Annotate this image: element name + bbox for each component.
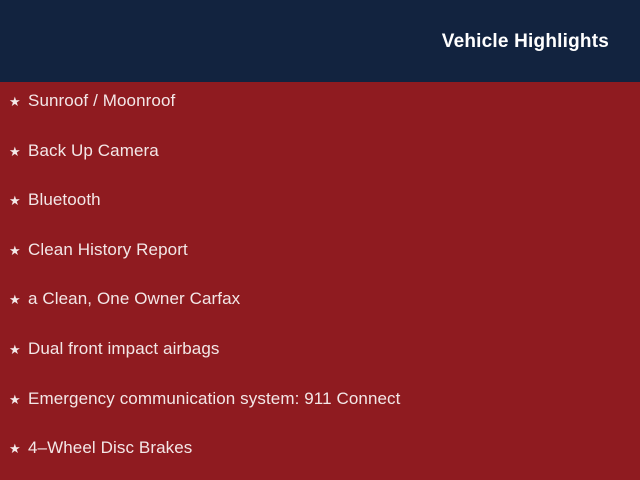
list-item: ★ Bluetooth (0, 191, 640, 241)
star-bullet-icon: ★ (9, 244, 28, 257)
highlights-list: ★ Sunroof / Moonroof ★ Back Up Camera ★ … (0, 92, 640, 480)
star-bullet-icon: ★ (9, 343, 28, 356)
list-item-label: Bluetooth (28, 191, 101, 208)
list-item-label: 4–Wheel Disc Brakes (28, 439, 192, 456)
star-bullet-icon: ★ (9, 293, 28, 306)
highlights-panel: ★ Sunroof / Moonroof ★ Back Up Camera ★ … (0, 82, 640, 480)
list-item: ★ a Clean, One Owner Carfax (0, 290, 640, 340)
list-item-label: Dual front impact airbags (28, 340, 219, 357)
star-bullet-icon: ★ (9, 442, 28, 455)
list-item: ★ Dual front impact airbags (0, 340, 640, 390)
list-item: ★ Sunroof / Moonroof (0, 92, 640, 142)
list-item: ★ 4–Wheel Disc Brakes (0, 439, 640, 480)
list-item: ★ Clean History Report (0, 241, 640, 291)
page-header: Vehicle Highlights (0, 0, 640, 82)
list-item-label: Sunroof / Moonroof (28, 92, 175, 109)
list-item: ★ Back Up Camera (0, 142, 640, 192)
list-item-label: Back Up Camera (28, 142, 159, 159)
list-item-label: a Clean, One Owner Carfax (28, 290, 240, 307)
star-bullet-icon: ★ (9, 145, 28, 158)
list-item: ★ Emergency communication system: 911 Co… (0, 390, 640, 440)
star-bullet-icon: ★ (9, 393, 28, 406)
star-bullet-icon: ★ (9, 95, 28, 108)
star-bullet-icon: ★ (9, 194, 28, 207)
list-item-label: Emergency communication system: 911 Conn… (28, 390, 400, 407)
vehicle-highlights-page: Vehicle Highlights ★ Sunroof / Moonroof … (0, 0, 640, 480)
page-title: Vehicle Highlights (442, 32, 609, 51)
list-item-label: Clean History Report (28, 241, 188, 258)
